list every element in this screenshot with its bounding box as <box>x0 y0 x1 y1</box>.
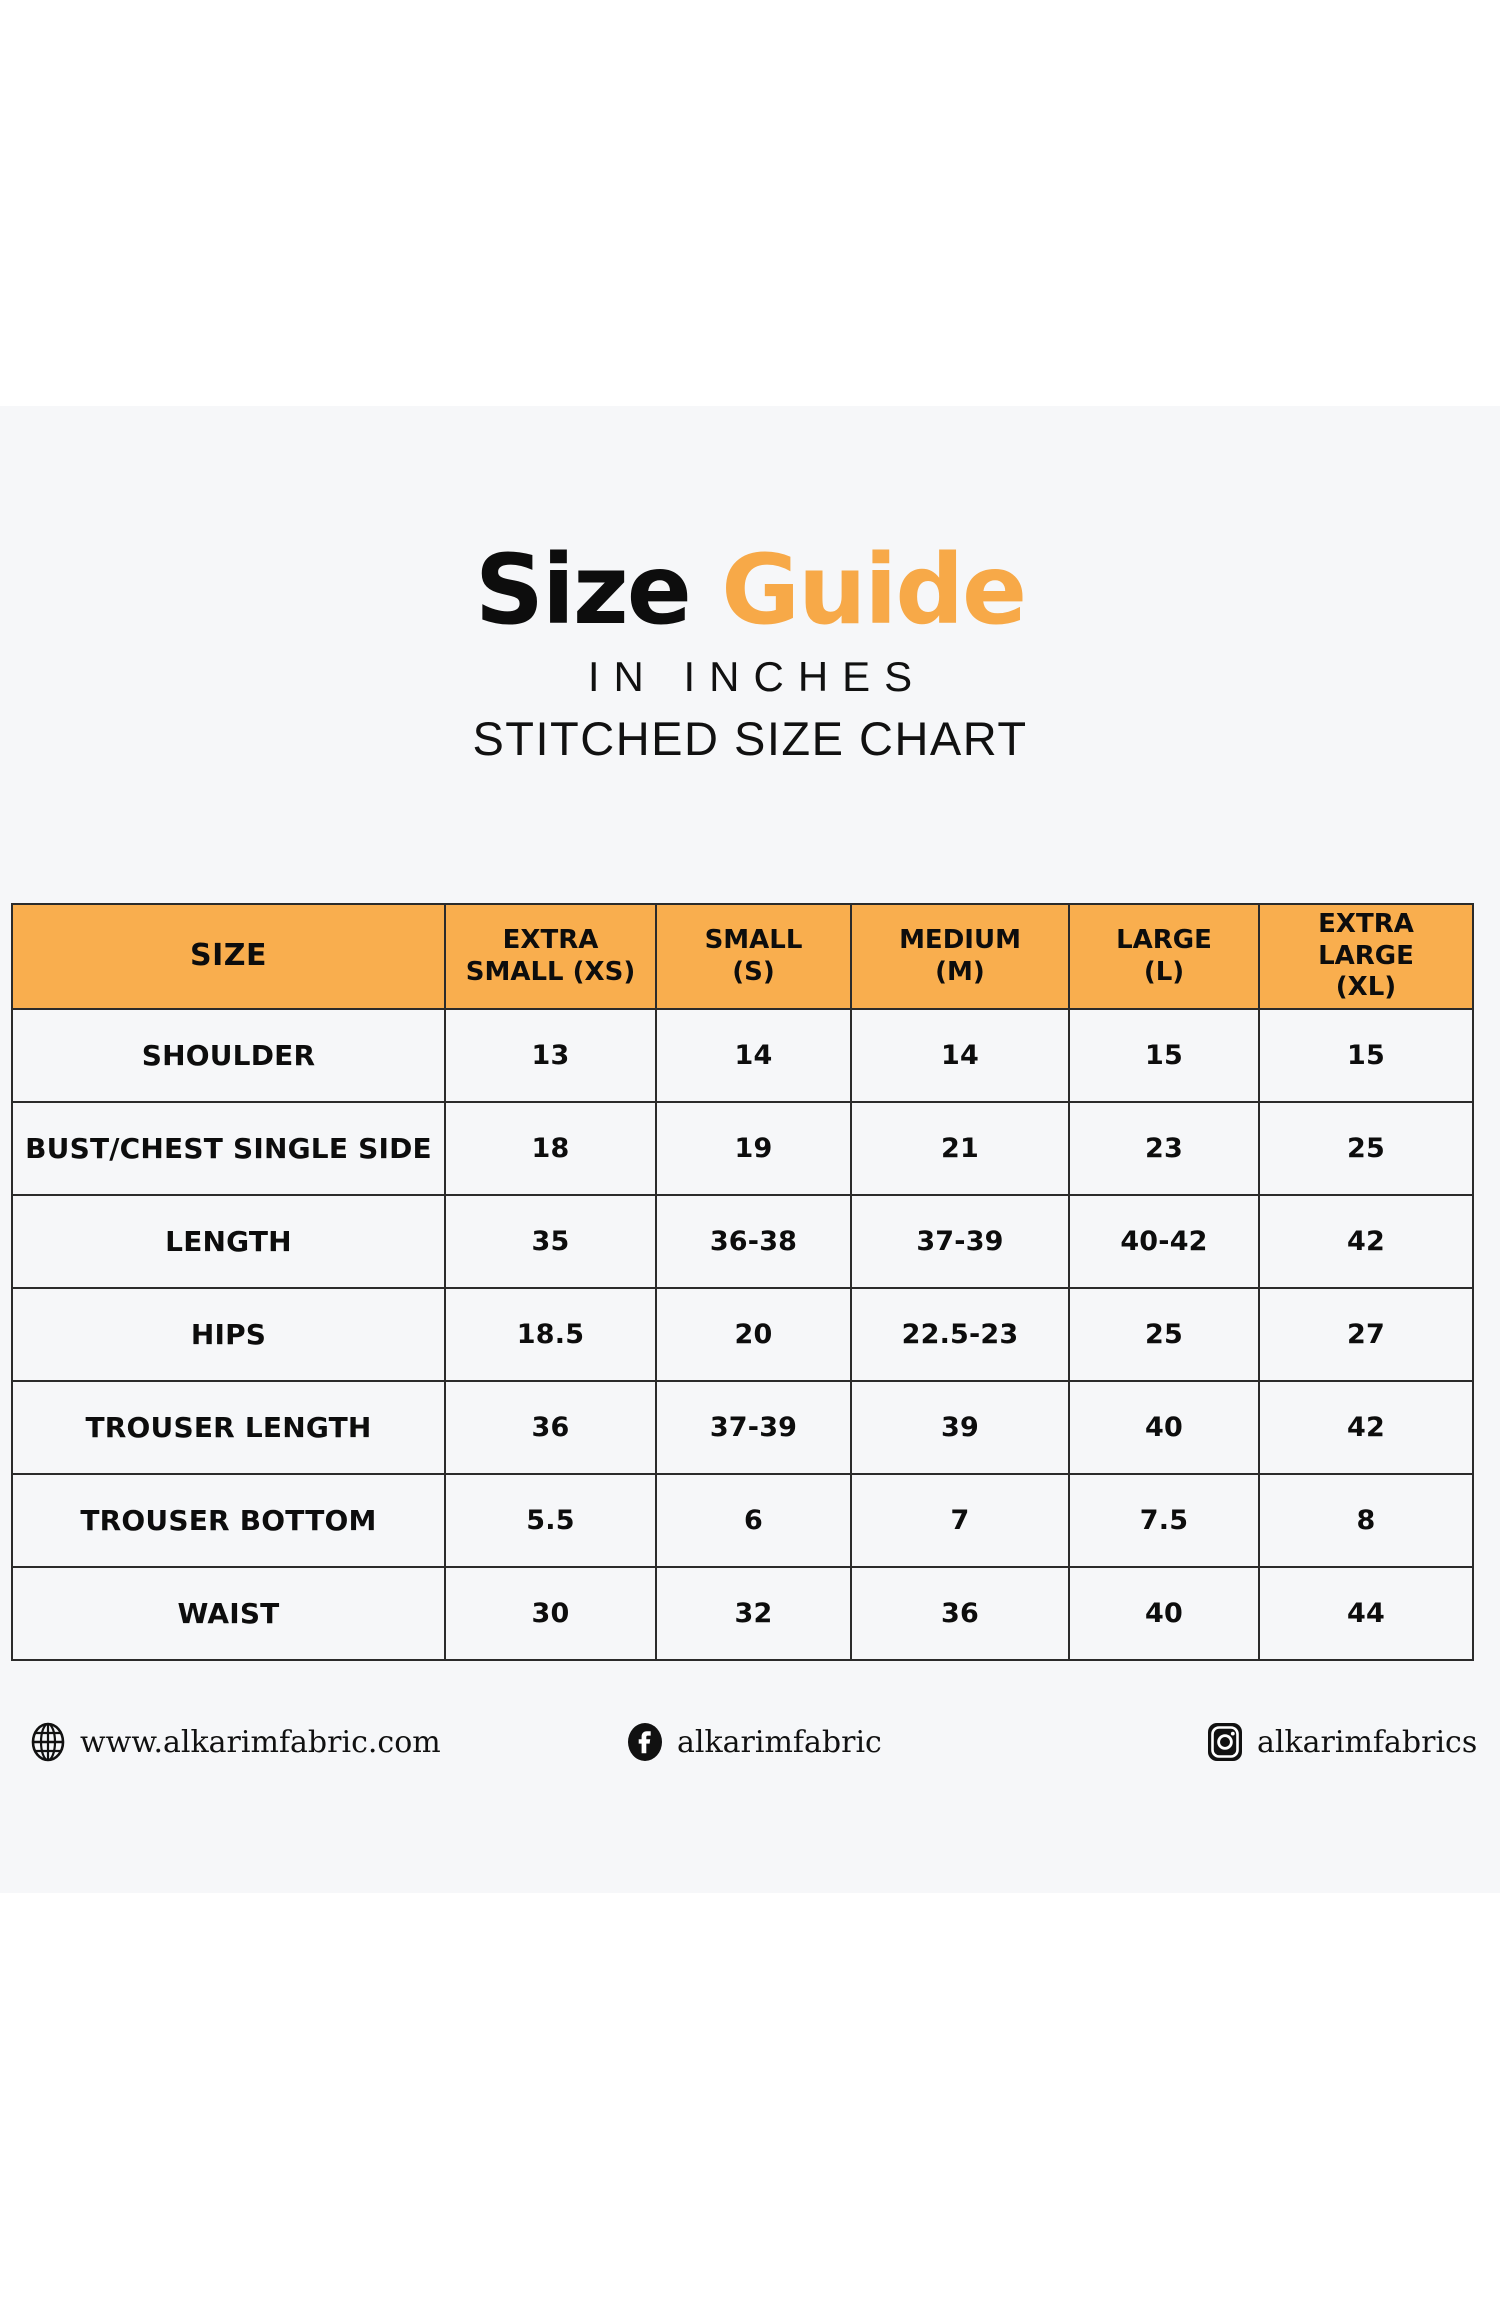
cell-xl: 44 <box>1259 1567 1473 1660</box>
cell-xs: 36 <box>445 1381 656 1474</box>
title-block: Size Guide IN INCHES STITCHED SIZE CHART <box>0 540 1500 766</box>
column-header-l: LARGE (L) <box>1069 904 1259 1009</box>
cell-s: 20 <box>656 1288 851 1381</box>
table-header-row: SIZE EXTRA SMALL (XS) SMALL (S) MEDIUM (… <box>12 904 1473 1009</box>
cell-xs: 18 <box>445 1102 656 1195</box>
facebook-label: alkarimfabric <box>677 1725 882 1760</box>
title-word-guide: Guide <box>721 534 1025 646</box>
cell-xl: 27 <box>1259 1288 1473 1381</box>
table-row: WAIST 30 32 36 40 44 <box>12 1567 1473 1660</box>
cell-xl: 8 <box>1259 1474 1473 1567</box>
row-label: TROUSER BOTTOM <box>12 1474 445 1567</box>
column-header-size: SIZE <box>12 904 445 1009</box>
cell-l: 25 <box>1069 1288 1259 1381</box>
table-row: HIPS 18.5 20 22.5-23 25 27 <box>12 1288 1473 1381</box>
page-title: Size Guide <box>0 540 1500 641</box>
row-label: BUST/CHEST SINGLE SIDE <box>12 1102 445 1195</box>
cell-xs: 18.5 <box>445 1288 656 1381</box>
instagram-icon <box>1205 1722 1245 1762</box>
cell-s: 19 <box>656 1102 851 1195</box>
size-chart-table: SIZE EXTRA SMALL (XS) SMALL (S) MEDIUM (… <box>11 903 1474 1661</box>
column-header-xl: EXTRA LARGE (XL) <box>1259 904 1473 1009</box>
table-row: BUST/CHEST SINGLE SIDE 18 19 21 23 25 <box>12 1102 1473 1195</box>
cell-m: 36 <box>851 1567 1069 1660</box>
table-row: SHOULDER 13 14 14 15 15 <box>12 1009 1473 1102</box>
subtitle-chart-name: STITCHED SIZE CHART <box>0 711 1500 766</box>
row-label: HIPS <box>12 1288 445 1381</box>
cell-m: 22.5-23 <box>851 1288 1069 1381</box>
row-label: SHOULDER <box>12 1009 445 1102</box>
cell-xl: 25 <box>1259 1102 1473 1195</box>
cell-m: 14 <box>851 1009 1069 1102</box>
column-header-xs: EXTRA SMALL (XS) <box>445 904 656 1009</box>
facebook-icon <box>625 1722 665 1762</box>
cell-s: 32 <box>656 1567 851 1660</box>
column-header-m: MEDIUM (M) <box>851 904 1069 1009</box>
cell-m: 7 <box>851 1474 1069 1567</box>
cell-l: 40 <box>1069 1381 1259 1474</box>
instagram-link[interactable]: alkarimfabrics <box>1205 1722 1477 1762</box>
cell-l: 7.5 <box>1069 1474 1259 1567</box>
cell-s: 37-39 <box>656 1381 851 1474</box>
row-label: TROUSER LENGTH <box>12 1381 445 1474</box>
cell-xl: 42 <box>1259 1381 1473 1474</box>
cell-l: 15 <box>1069 1009 1259 1102</box>
table-row: TROUSER LENGTH 36 37-39 39 40 42 <box>12 1381 1473 1474</box>
cell-xs: 13 <box>445 1009 656 1102</box>
row-label: WAIST <box>12 1567 445 1660</box>
table-row: LENGTH 35 36-38 37-39 40-42 42 <box>12 1195 1473 1288</box>
table-body: SHOULDER 13 14 14 15 15 BUST/CHEST SINGL… <box>12 1009 1473 1660</box>
cell-m: 39 <box>851 1381 1069 1474</box>
table-row: TROUSER BOTTOM 5.5 6 7 7.5 8 <box>12 1474 1473 1567</box>
cell-xs: 30 <box>445 1567 656 1660</box>
cell-xs: 35 <box>445 1195 656 1288</box>
facebook-link[interactable]: alkarimfabric <box>625 1722 882 1762</box>
cell-m: 37-39 <box>851 1195 1069 1288</box>
cell-m: 21 <box>851 1102 1069 1195</box>
footer: www.alkarimfabric.com alkarimfabric alka… <box>0 1702 1500 1782</box>
cell-l: 23 <box>1069 1102 1259 1195</box>
website-link[interactable]: www.alkarimfabric.com <box>28 1722 441 1762</box>
instagram-label: alkarimfabrics <box>1257 1725 1477 1760</box>
cell-xl: 42 <box>1259 1195 1473 1288</box>
cell-s: 36-38 <box>656 1195 851 1288</box>
subtitle-units: IN INCHES <box>0 653 1500 701</box>
row-label: LENGTH <box>12 1195 445 1288</box>
cell-s: 14 <box>656 1009 851 1102</box>
cell-l: 40 <box>1069 1567 1259 1660</box>
size-guide-page: Size Guide IN INCHES STITCHED SIZE CHART… <box>0 0 1500 2300</box>
column-header-s: SMALL (S) <box>656 904 851 1009</box>
cell-xl: 15 <box>1259 1009 1473 1102</box>
globe-icon <box>28 1722 68 1762</box>
table-header: SIZE EXTRA SMALL (XS) SMALL (S) MEDIUM (… <box>12 904 1473 1009</box>
website-label: www.alkarimfabric.com <box>80 1725 441 1760</box>
title-word-size: Size <box>475 534 690 646</box>
cell-s: 6 <box>656 1474 851 1567</box>
cell-l: 40-42 <box>1069 1195 1259 1288</box>
cell-xs: 5.5 <box>445 1474 656 1567</box>
